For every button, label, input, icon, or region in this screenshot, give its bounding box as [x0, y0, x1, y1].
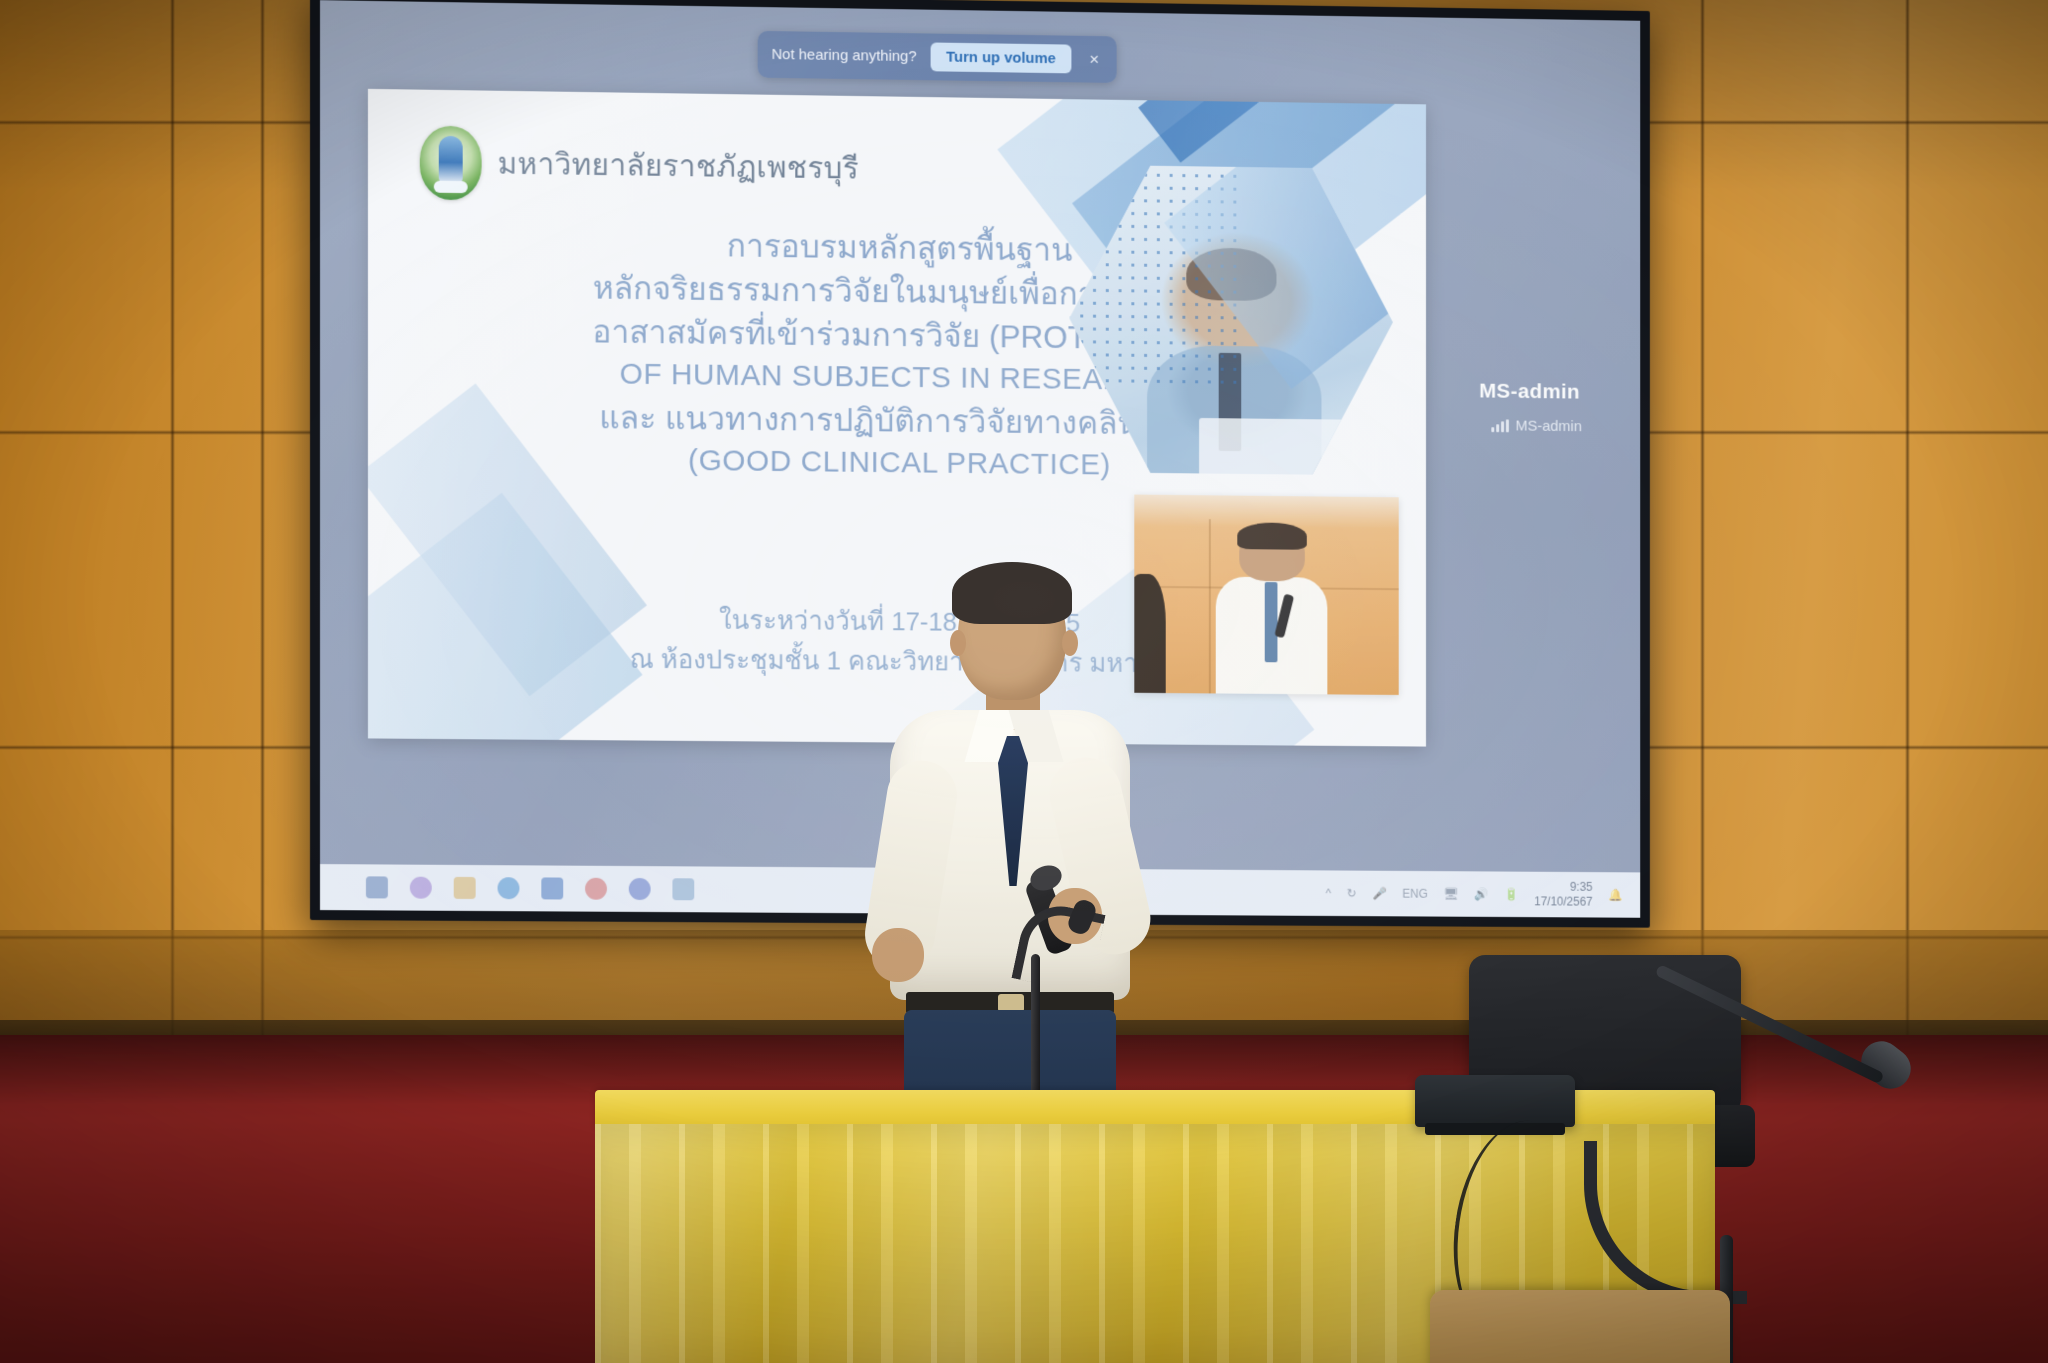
network-icon[interactable]: 🖥 [1443, 887, 1458, 901]
teams-icon[interactable] [629, 878, 651, 900]
presenter-left-hand [872, 928, 924, 982]
notification-bell-icon[interactable]: 🔔 [1608, 888, 1623, 902]
windows-start-icon[interactable] [366, 876, 388, 898]
taskbar-app-icons [366, 876, 694, 900]
participant-name-label: MS-admin [1479, 380, 1580, 405]
participant-status-name: MS-admin [1515, 418, 1582, 436]
clock-date: 17/10/2567 [1534, 894, 1592, 908]
university-seal-icon [420, 126, 482, 201]
taskbar-clock[interactable]: 9:35 17/10/2567 [1534, 880, 1592, 910]
wooden-chair [1430, 1290, 1730, 1363]
file-explorer-icon[interactable] [454, 877, 476, 899]
notification-message: Not hearing anything? [772, 46, 917, 65]
chrome-icon[interactable] [585, 878, 607, 900]
participant-status-row: MS-admin [1491, 417, 1582, 435]
taskbar-system-tray: ^ ↻ 🎤 ENG 🖥 🔊 🔋 9:35 17/10/2567 🔔 [1326, 878, 1623, 909]
presenter-hair [952, 562, 1072, 624]
sync-icon[interactable]: ↻ [1347, 886, 1357, 900]
presenter-right-ear [1062, 630, 1078, 656]
university-name: มหาวิทยาลัยราชภัฏเพชรบุรี [498, 140, 859, 192]
media-player-icon[interactable] [672, 878, 694, 900]
university-header: มหาวิทยาลัยราชภัฏเพชรบุรี [420, 126, 859, 206]
camera-speaker [1214, 527, 1330, 694]
conference-room-scene: มหาวิทยาลัยราชภัฏเพชรบุรี การอบรมหลักสูต… [0, 0, 2048, 1363]
battery-icon[interactable]: 🔋 [1504, 887, 1519, 901]
camera-speaker-tie [1265, 582, 1278, 662]
camera-speaker-hair [1237, 522, 1307, 549]
powerpoint-icon[interactable] [541, 877, 563, 899]
clock-time: 9:35 [1570, 880, 1593, 894]
chevron-up-icon[interactable]: ^ [1326, 886, 1332, 900]
volume-icon[interactable]: 🔊 [1474, 887, 1489, 901]
edge-browser-icon[interactable] [498, 877, 520, 899]
turn-up-volume-button[interactable]: Turn up volume [930, 42, 1071, 73]
close-icon[interactable]: × [1085, 51, 1103, 68]
signal-bars-icon [1491, 419, 1509, 432]
microphone-icon[interactable]: 🎤 [1372, 887, 1387, 901]
language-indicator[interactable]: ENG [1402, 887, 1427, 901]
audio-notification-banner[interactable]: Not hearing anything? Turn up volume × [758, 31, 1117, 83]
live-camera-tile[interactable] [1134, 495, 1398, 695]
copilot-icon[interactable] [410, 877, 432, 899]
presenter-left-ear [950, 630, 966, 656]
